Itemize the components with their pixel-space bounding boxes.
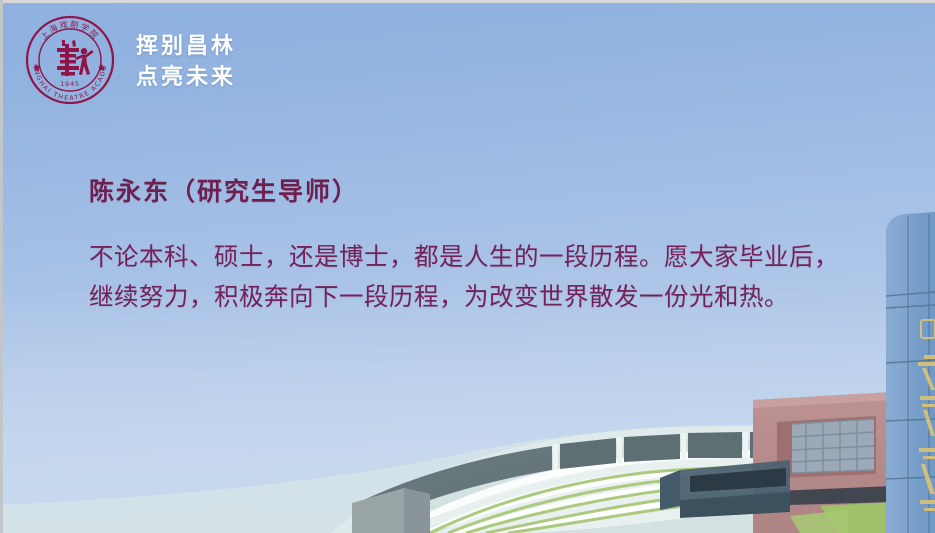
speaker-quote: 不论本科、硕士，还是博士，都是人生的一段历程。愿大家毕业后，继续努力，积极奔向下… (89, 237, 851, 316)
canvas-top-edge (0, 0, 935, 3)
campus-tower (886, 212, 935, 533)
shanghai-theatre-academy-logo: SHANGHAI THEATRE ACADEMY 上海戏剧学院 (24, 14, 116, 106)
header-title-line1: 挥别昌林 (136, 35, 236, 58)
header-title-line2: 点亮未来 (136, 66, 236, 89)
header-title-block: 挥别昌林 点亮未来 (136, 31, 236, 89)
slide-canvas: SHANGHAI THEATRE ACADEMY 上海戏剧学院 (0, 0, 935, 533)
speaker-name: 陈永东（研究生导师） (89, 176, 879, 207)
svg-text:1945: 1945 (60, 80, 80, 88)
seal-icon: SHANGHAI THEATRE ACADEMY 上海戏剧学院 (24, 14, 116, 106)
slide-content: 陈永东（研究生导师） 不论本科、硕士，还是博士，都是人生的一段历程。愿大家毕业后… (89, 176, 879, 317)
slide-header: SHANGHAI THEATRE ACADEMY 上海戏剧学院 (24, 14, 236, 106)
canvas-left-edge (0, 0, 3, 533)
